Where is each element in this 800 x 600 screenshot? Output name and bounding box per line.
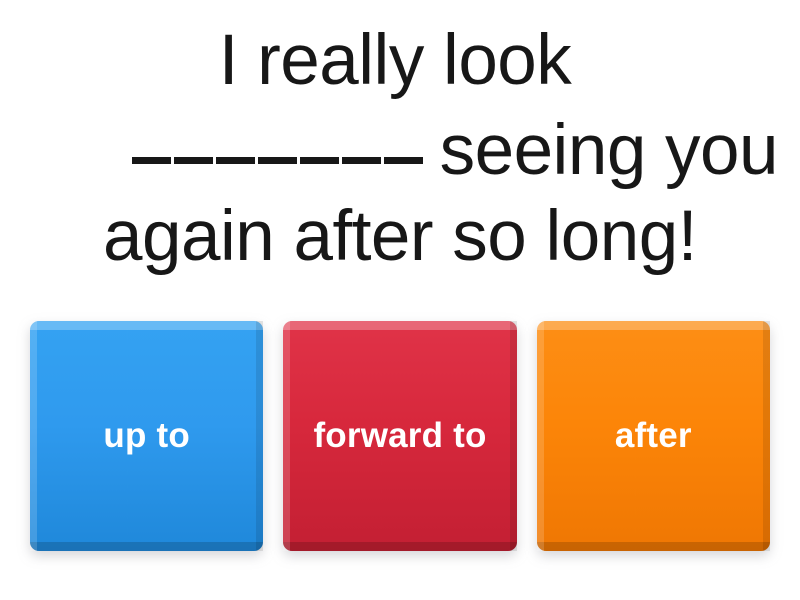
quiz-canvas: I really look seeing you again after so … bbox=[0, 0, 800, 600]
answer-card-after[interactable]: after bbox=[537, 321, 770, 551]
question-prompt: I really look seeing you again after so … bbox=[0, 18, 800, 298]
blank-underline bbox=[132, 157, 424, 164]
answer-card-forward-to[interactable]: forward to bbox=[283, 321, 516, 551]
answer-card-label: after bbox=[615, 414, 692, 458]
answer-card-right-bevel bbox=[256, 321, 263, 551]
answer-card-label: up to bbox=[103, 414, 190, 458]
question-line-3: again after so long! bbox=[103, 194, 697, 280]
answer-options: up to forward to after bbox=[30, 321, 770, 551]
blank-placeholder bbox=[132, 104, 424, 174]
answer-card-left-bevel bbox=[537, 321, 544, 551]
question-line-2-text: seeing you bbox=[440, 108, 778, 194]
answer-card-right-bevel bbox=[510, 321, 517, 551]
question-line-1: I really look bbox=[219, 18, 572, 104]
answer-card-up-to[interactable]: up to bbox=[30, 321, 263, 551]
answer-card-right-bevel bbox=[763, 321, 770, 551]
question-line-2: seeing you bbox=[22, 104, 778, 194]
answer-card-label: forward to bbox=[313, 414, 486, 458]
answer-card-left-bevel bbox=[30, 321, 37, 551]
answer-card-left-bevel bbox=[283, 321, 290, 551]
